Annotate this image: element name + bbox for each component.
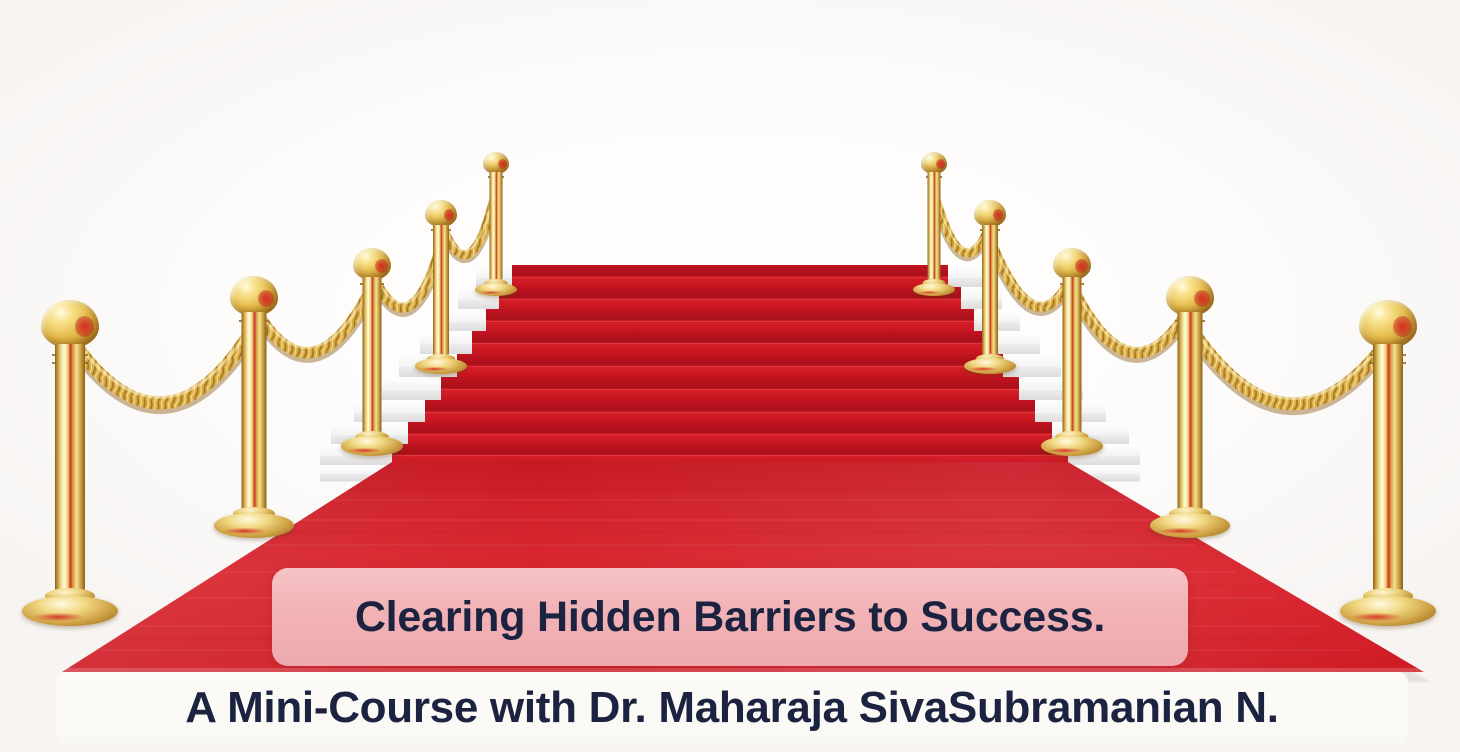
carpet-tread — [441, 377, 1019, 400]
stanchion-post-icon — [916, 152, 952, 298]
carpet-tread — [499, 287, 961, 309]
carpet-tread — [392, 444, 1068, 465]
page-title: Clearing Hidden Barriers to Success. — [355, 593, 1105, 642]
carpet-tread — [457, 354, 1003, 377]
stanchion-post-icon — [419, 200, 463, 376]
carpet-tread — [486, 309, 974, 331]
stanchion-post-icon — [1352, 300, 1424, 628]
stanchion-post-icon — [34, 300, 106, 628]
stair-step — [320, 465, 1140, 481]
stanchion-post-icon — [1158, 276, 1222, 540]
carpet-tread — [408, 422, 1052, 444]
stanchion-post-icon — [1046, 248, 1098, 458]
carpet-tread — [425, 400, 1035, 422]
page-subtitle: A Mini-Course with Dr. Maharaja SivaSubr… — [185, 683, 1278, 733]
stanchion-post-icon — [222, 276, 286, 540]
stanchion-post-icon — [478, 152, 514, 298]
stanchion-post-icon — [346, 248, 398, 458]
poster-canvas: Clearing Hidden Barriers to Success. A M… — [0, 0, 1460, 752]
stanchion-post-icon — [968, 200, 1012, 376]
carpet-tread — [512, 265, 948, 287]
carpet-tread — [472, 331, 988, 354]
subtitle-band: A Mini-Course with Dr. Maharaja SivaSubr… — [56, 672, 1408, 744]
title-banner: Clearing Hidden Barriers to Success. — [272, 568, 1188, 666]
